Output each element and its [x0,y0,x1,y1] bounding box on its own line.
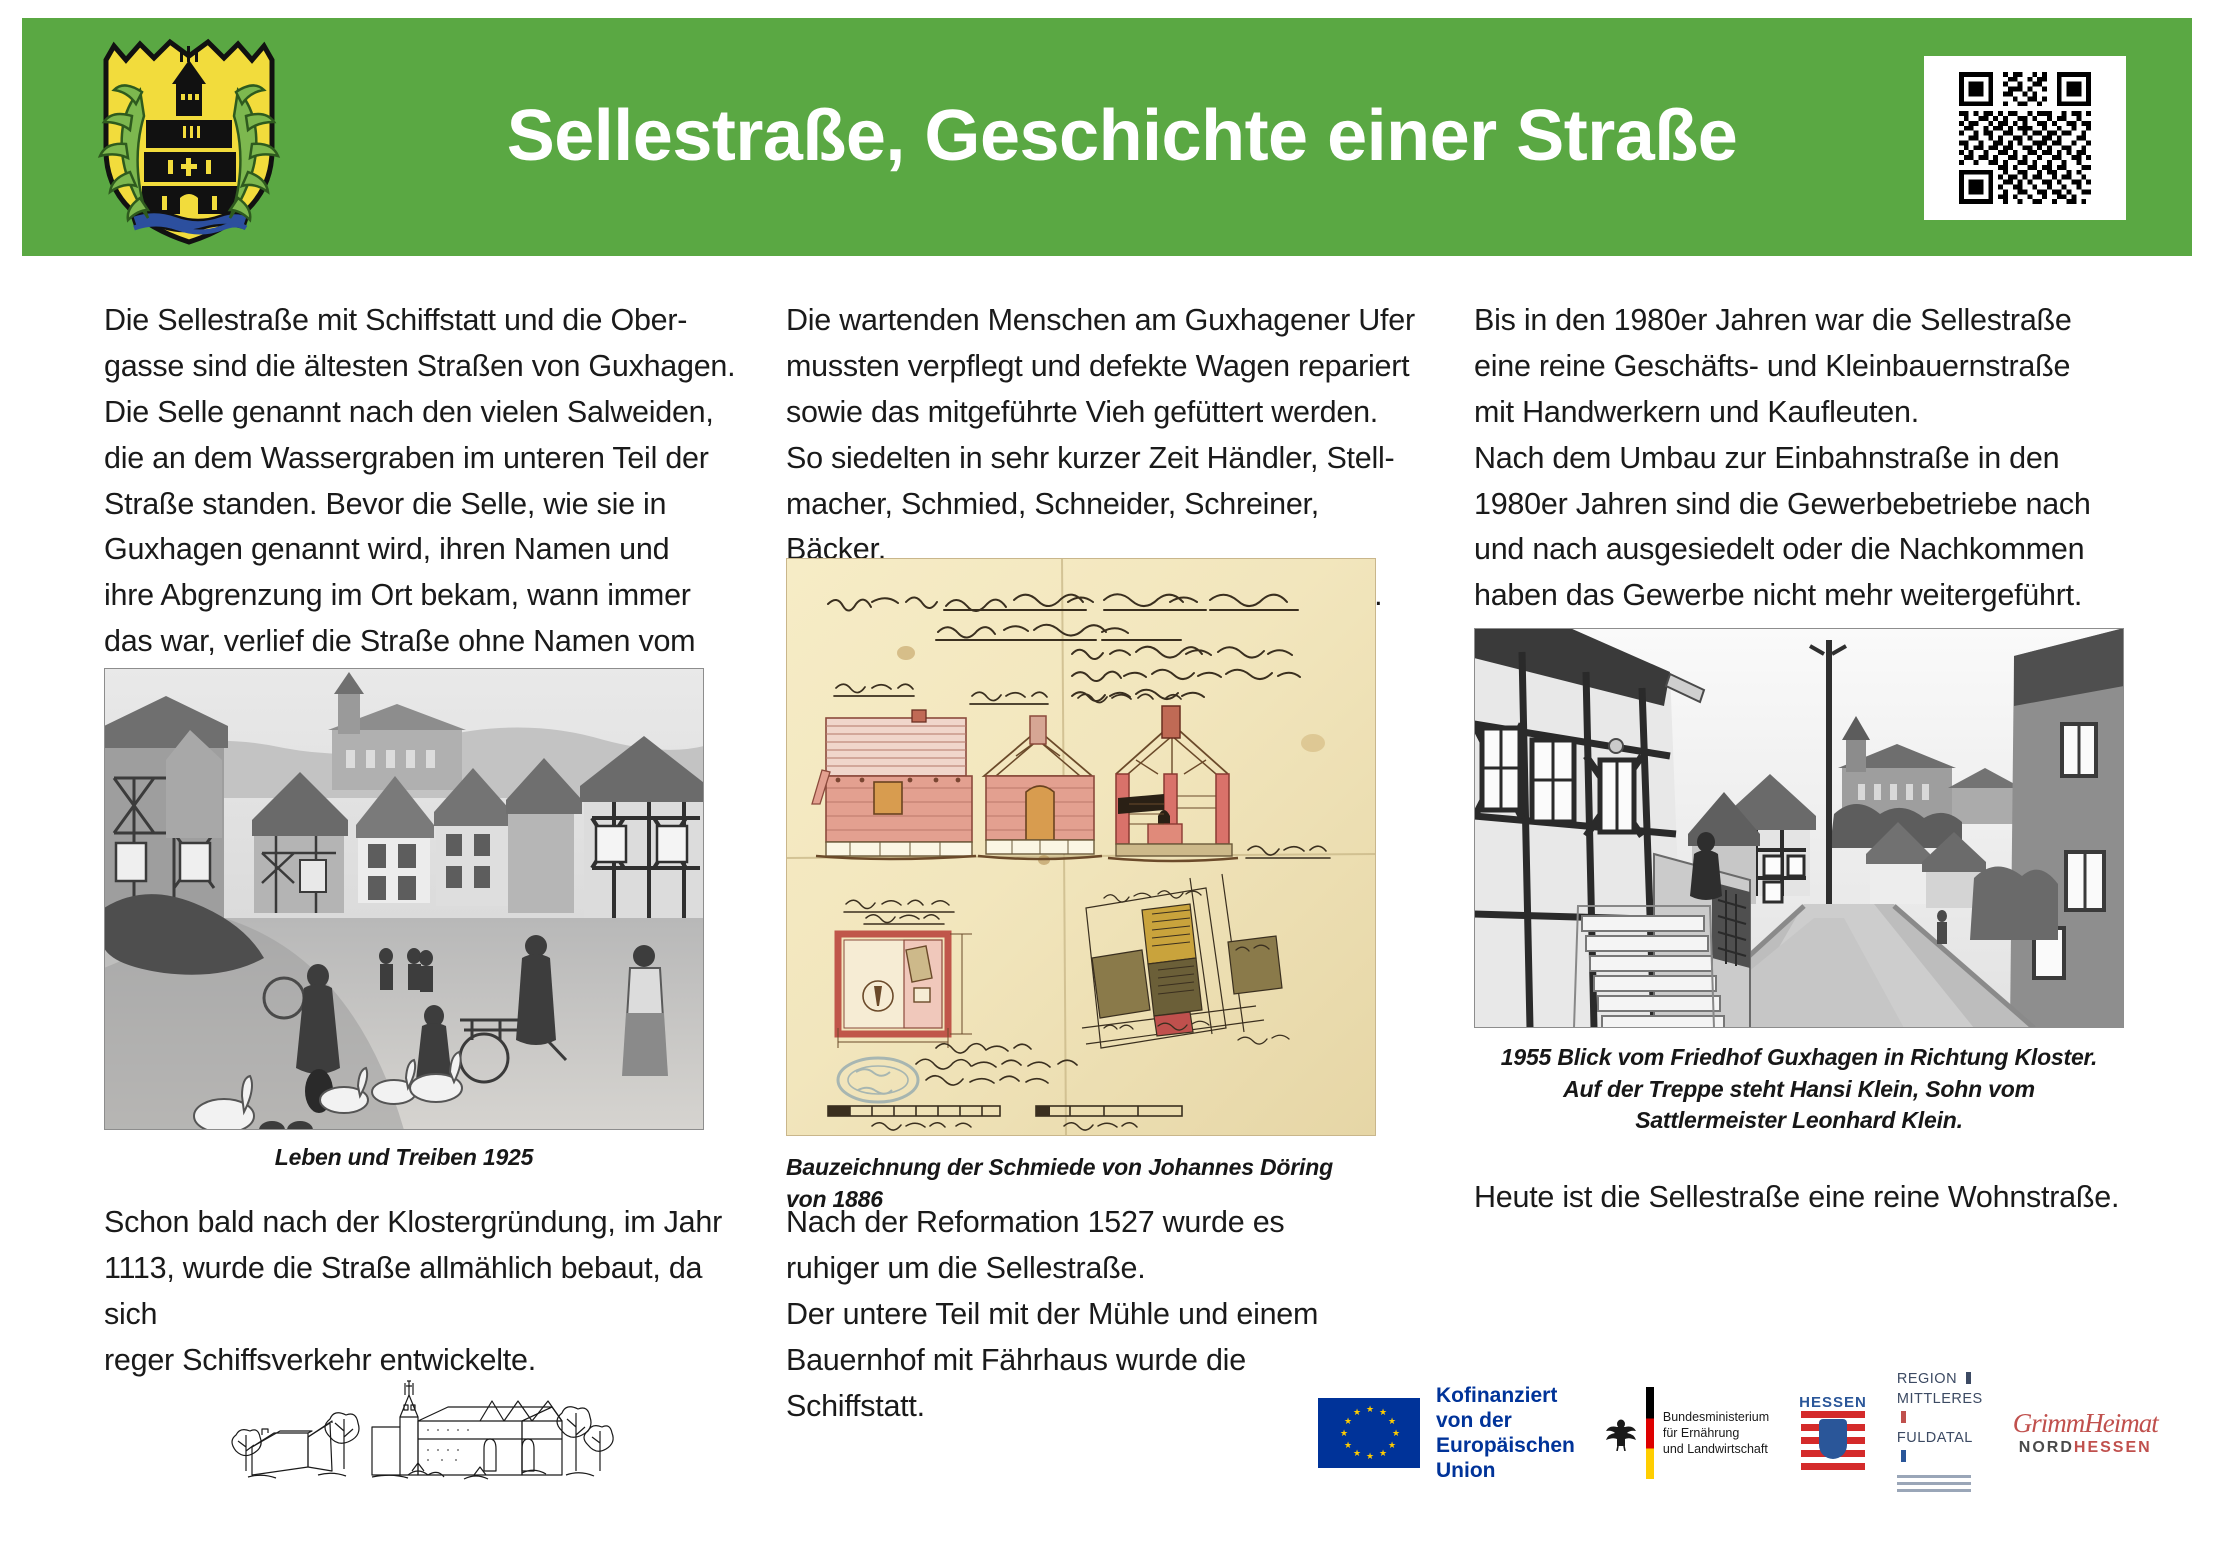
hessen-label-grimm: HESSEN [2074,1439,2152,1456]
region-line-2: MITTLERES [1897,1391,1983,1407]
figure-caption-street-1955: 1955 Blick vom Friedhof Guxhagen in Rich… [1474,1042,2124,1137]
bmel-text: Bundesministerium für Ernährung und Land… [1663,1409,1769,1457]
funding-logo-bar: ★ ★ ★ ★ ★ ★ ★ ★ ★ ★ ★ ★ Kofinanziert von… [1318,1378,2108,1488]
photo-blacksmith-drawing [786,558,1376,1136]
figure-caption-street-1925: Leben und Treiben 1925 [104,1142,704,1174]
region-subtext-placeholder [1897,1475,1983,1492]
region-line-1: REGION [1897,1371,1957,1387]
guxhagen-coat-of-arms-icon [84,30,294,245]
board-header: Sellestraße, Geschichte einer Straße [22,18,2192,256]
qr-code[interactable] [1924,56,2126,220]
photo-street-1925 [104,668,704,1130]
federal-eagle-icon [1605,1415,1637,1451]
column3-paragraph-2: Heute ist die Sellestraße eine reine Woh… [1474,1175,2124,1221]
hessen-lion-shield-icon [1819,1419,1847,1459]
information-board: Sellestraße, Geschichte einer Straße [0,0,2214,1552]
hessen-label: HESSEN [1799,1394,1867,1411]
nord-label: NORD [2019,1439,2074,1456]
nordhessen-label: NORDHESSEN [2019,1439,2152,1457]
page-title: Sellestraße, Geschichte einer Straße [362,18,1882,256]
eu-funding-text: Kofinanziert von der Europäischen Union [1436,1383,1575,1484]
hessen-logo: HESSEN [1799,1394,1867,1473]
figure-street-1955: 1955 Blick vom Friedhof Guxhagen in Rich… [1474,628,2124,1137]
region-line-3: FULDATAL [1897,1430,1972,1446]
photo-street-1955 [1474,628,2124,1028]
column1-paragraph-2: Schon bald nach der Klostergründung, im … [104,1200,744,1384]
european-union-logo: ★ ★ ★ ★ ★ ★ ★ ★ ★ ★ ★ ★ Kofinanziert von… [1318,1383,1575,1484]
region-mittleres-fuldatal-logo: REGION MITTLERES FULDATAL [1897,1370,1983,1496]
bundesministerium-logo: Bundesministerium für Ernährung und Land… [1605,1387,1769,1479]
figure-blacksmith-drawing-1886: Bauzeichnung der Schmiede von Johannes D… [786,558,1376,1215]
grimmheimat-nordhessen-logo: GrimmHeimat NORDHESSEN [2013,1410,2158,1457]
eu-flag-icon: ★ ★ ★ ★ ★ ★ ★ ★ ★ ★ ★ ★ [1318,1398,1420,1468]
column3-paragraph-1: Bis in den 1980er Jahren war die Sellest… [1474,298,2124,619]
grimmheimat-script: GrimmHeimat [2013,1410,2158,1437]
figure-street-1925: Leben und Treiben 1925 [104,668,704,1174]
german-flag-bar-icon [1646,1387,1654,1479]
hessen-flag-icon [1801,1411,1865,1473]
monastery-line-drawing-icon [222,1375,622,1505]
